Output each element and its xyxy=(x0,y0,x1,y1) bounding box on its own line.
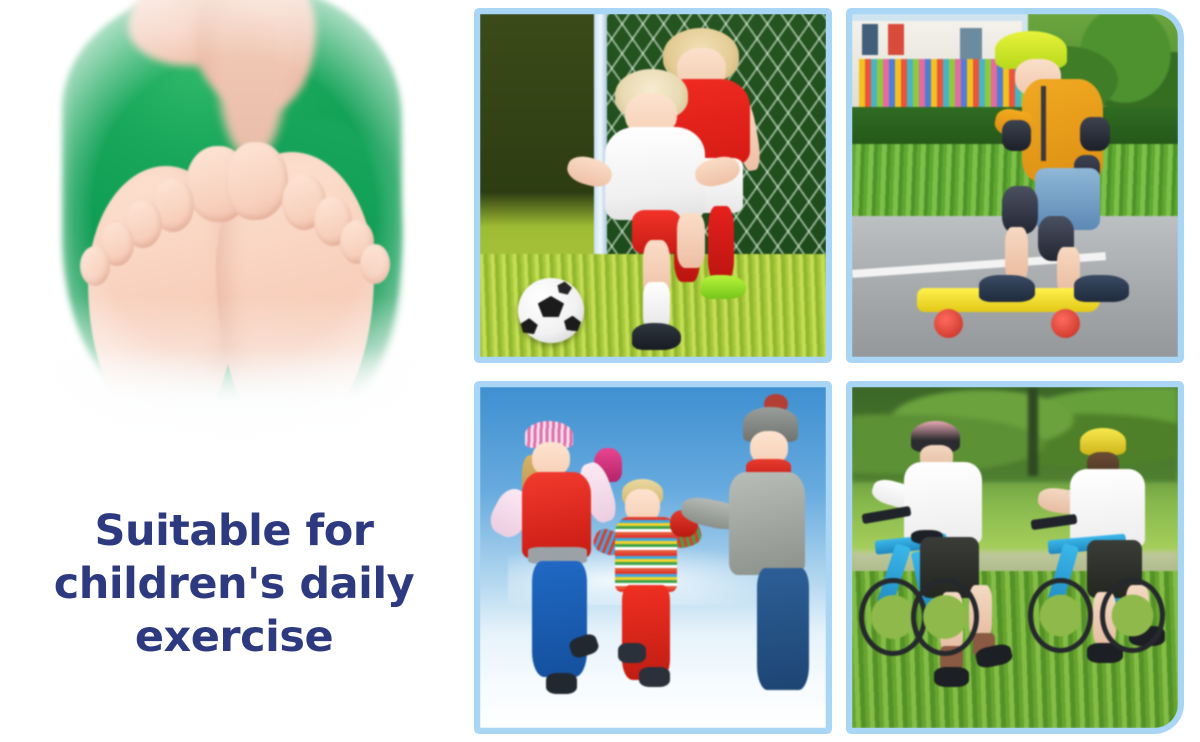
photo-gallery xyxy=(0,0,1200,742)
snow-scene-art xyxy=(480,387,826,728)
blue-jeans xyxy=(757,568,809,691)
soccer-scene-art xyxy=(480,14,826,357)
jacket-zipper xyxy=(1041,86,1046,161)
bicycle-scene-art xyxy=(852,387,1178,728)
winter-boot xyxy=(618,643,646,663)
sneaker xyxy=(979,275,1034,302)
red-snow-pants xyxy=(622,585,670,680)
winter-boot xyxy=(639,667,670,687)
black-cleat xyxy=(632,323,680,350)
product-banner: Suitable for children's daily exercise xyxy=(0,0,1200,742)
child-face xyxy=(532,442,570,476)
goal-post xyxy=(594,14,606,275)
window xyxy=(960,28,983,62)
bicycle-wheel xyxy=(1100,578,1165,653)
elbow-pad xyxy=(1002,120,1031,151)
green-cleat xyxy=(701,275,746,299)
striped-sweater xyxy=(615,517,677,592)
ball-panel xyxy=(557,281,571,294)
soccer-ball xyxy=(518,278,584,344)
skateboard-scene-art xyxy=(852,14,1178,357)
sneaker xyxy=(934,667,970,687)
elbow-pad xyxy=(1080,117,1109,151)
kids-playing-soccer-photo xyxy=(474,8,832,363)
child-leg xyxy=(677,213,705,268)
bicycle-wheel xyxy=(911,578,979,656)
skateboard-wheel xyxy=(934,309,963,338)
white-shirt xyxy=(605,127,705,220)
grey-vest xyxy=(729,472,805,574)
tree-trunk xyxy=(1028,387,1038,476)
child-leg xyxy=(1005,227,1028,282)
sneaker xyxy=(1074,275,1129,302)
window xyxy=(862,24,878,55)
red-sock xyxy=(708,206,734,281)
winter-boot xyxy=(546,673,577,693)
children-running-in-snow-photo xyxy=(474,381,832,734)
window xyxy=(888,24,904,55)
boys-riding-bicycles-photo xyxy=(846,381,1184,734)
blue-jeans xyxy=(532,561,587,677)
boy-on-skateboard-photo xyxy=(846,8,1184,363)
red-vest xyxy=(522,472,591,557)
bicycle-wheel xyxy=(1028,578,1093,653)
